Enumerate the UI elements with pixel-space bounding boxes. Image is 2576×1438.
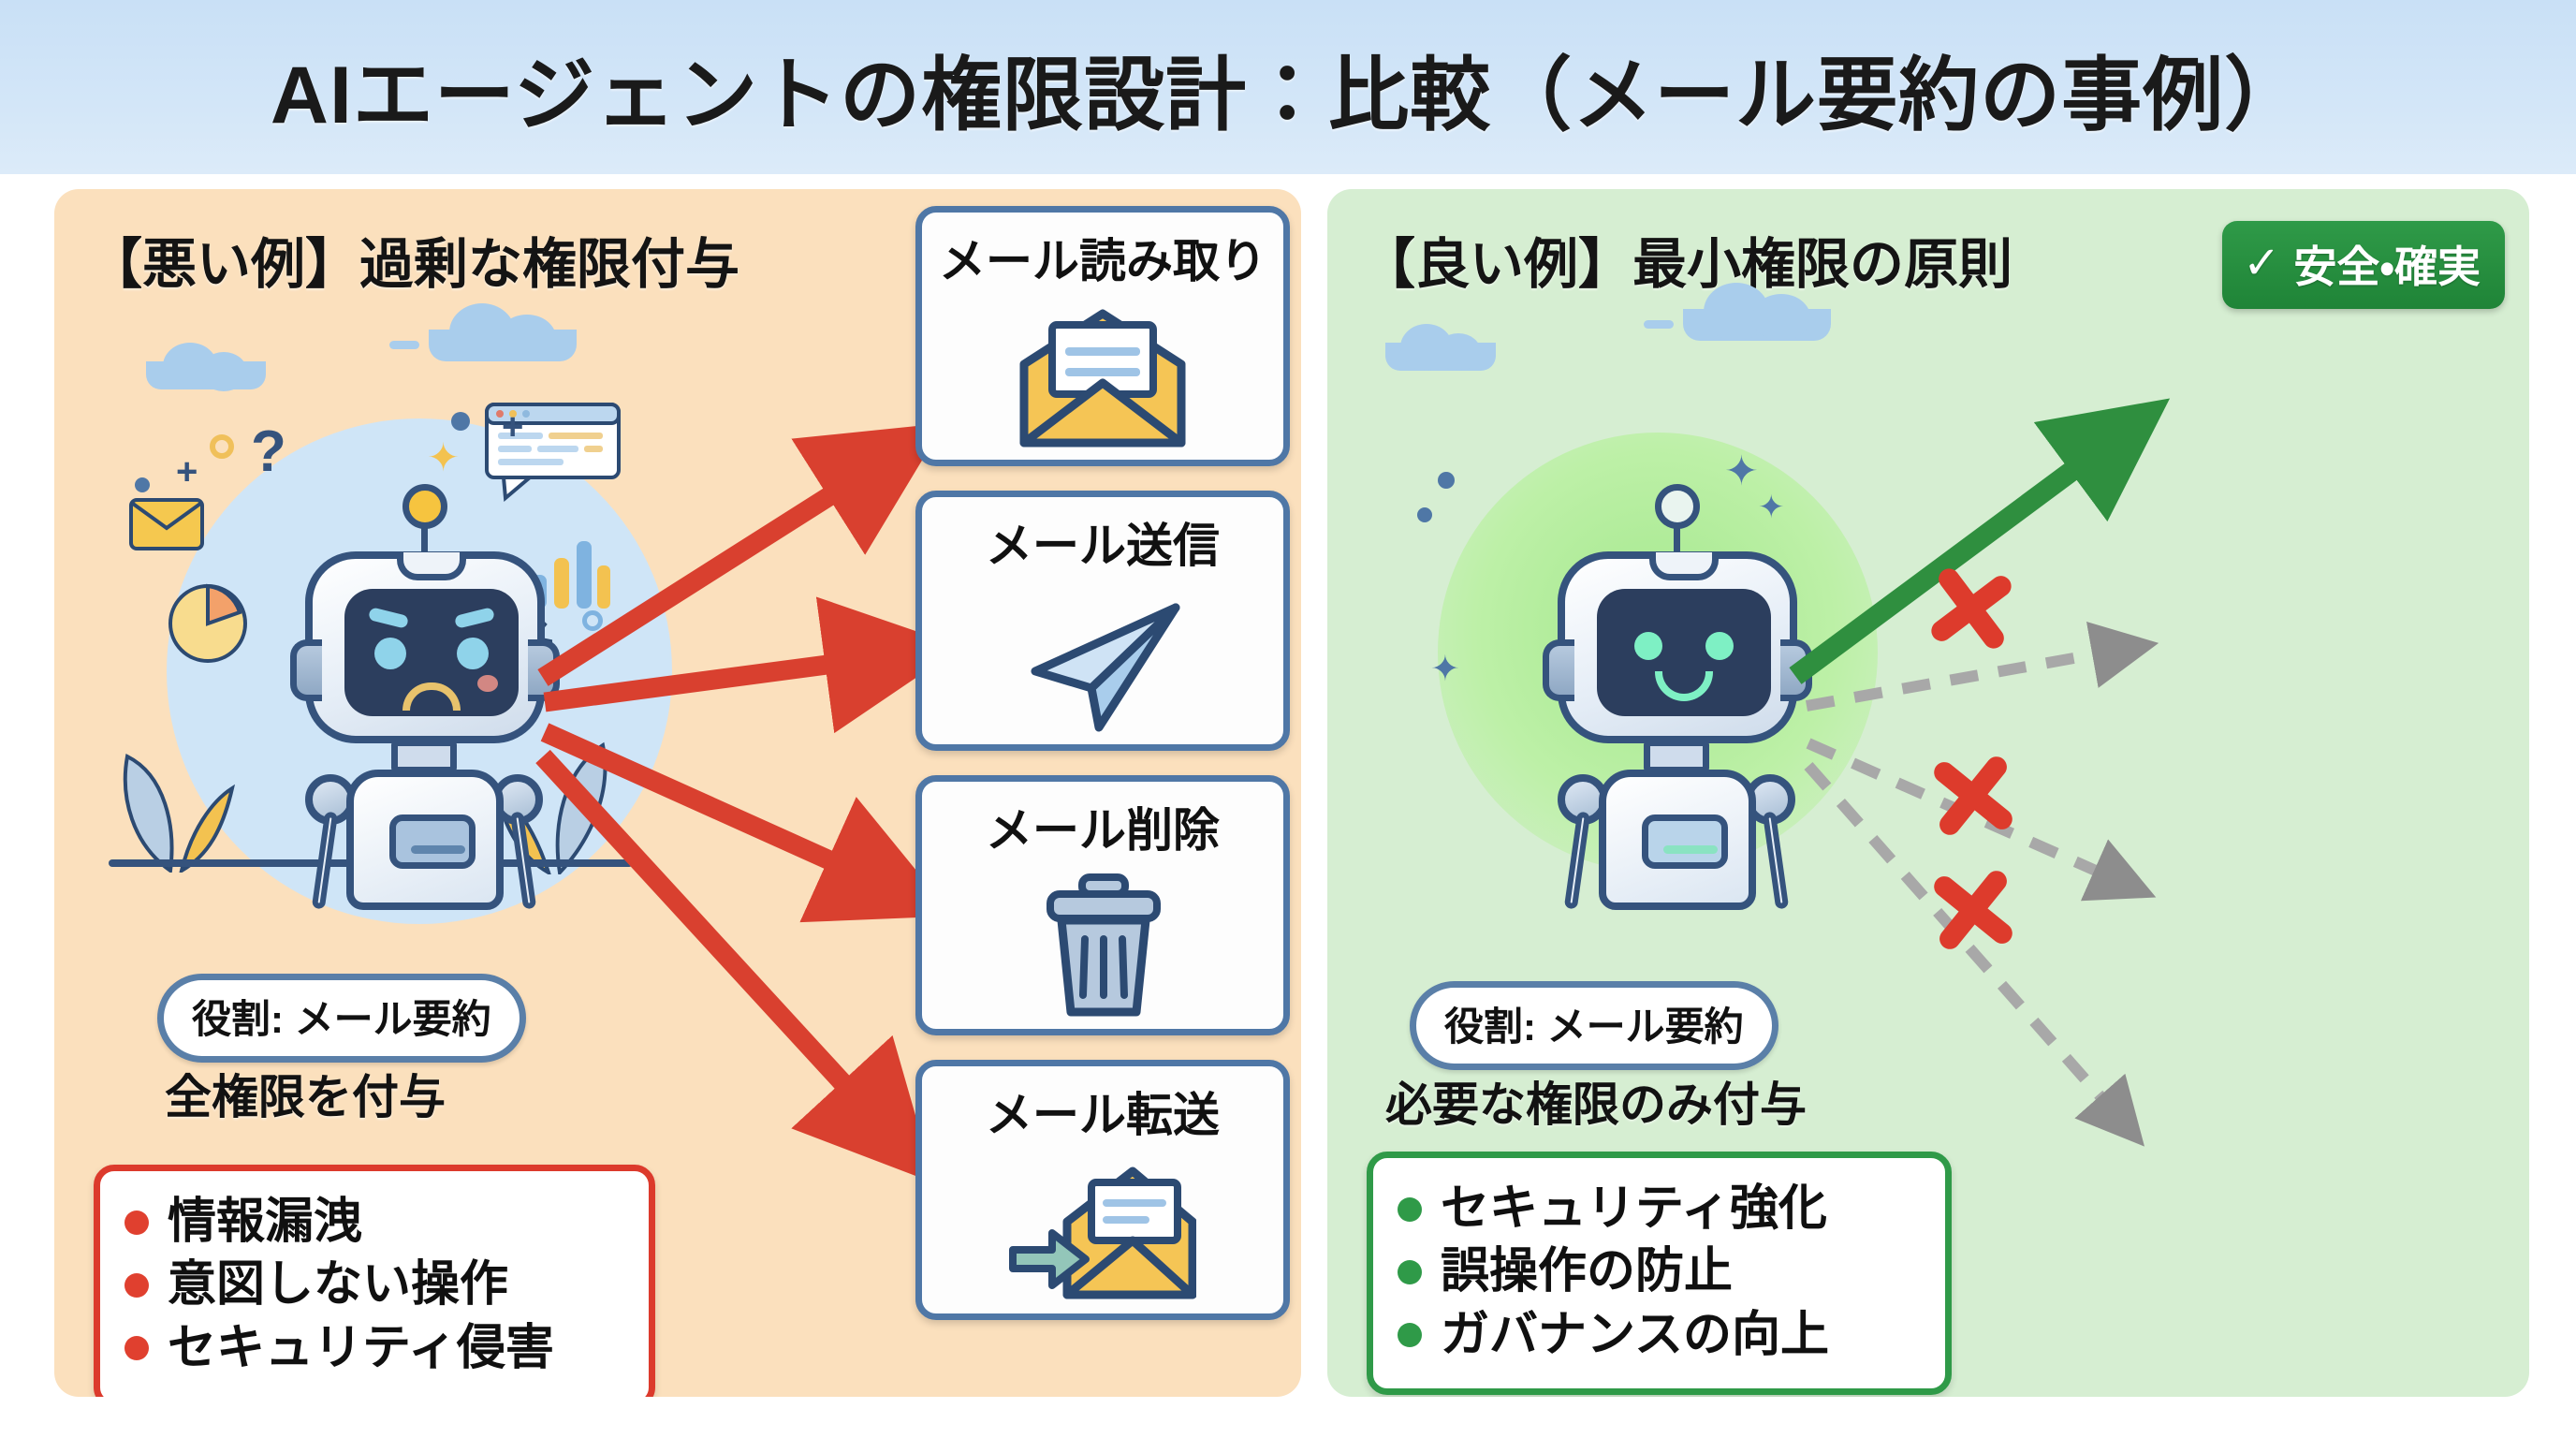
bullet-icon: [1398, 1260, 1422, 1284]
infographic-root: AIエージェントの権限設計：比較（メール要約の事例） 【悪い例】過剰な権限付与 …: [0, 0, 2576, 1438]
page-title: AIエージェントの権限設計：比較（メール要約の事例）: [271, 29, 2305, 146]
bullet-icon: [124, 1273, 149, 1298]
list-item-label: 誤操作の防止: [1441, 1243, 1733, 1300]
dot-decoration: [451, 412, 470, 431]
status-badge-label: 安全・確実: [2293, 233, 2481, 295]
robot-scene-bad: ? + + ✦ ✦: [120, 330, 719, 966]
check-icon: ✓: [2243, 242, 2280, 286]
question-mark-decoration-icon: ?: [251, 418, 286, 485]
list-item: 意図しない操作: [124, 1256, 617, 1313]
robot-body: [346, 770, 504, 910]
benefit-list-good: セキュリティ強化 誤操作の防止 ガバナンスの向上: [1367, 1152, 1952, 1395]
panel-bad-example: 【悪い例】過剰な権限付与 ✕ 危険性あり: [54, 189, 1301, 1397]
header-band: AIエージェントの権限設計：比較（メール要約の事例）: [0, 0, 2576, 174]
permission-card-label: メール送信: [986, 508, 1220, 576]
ai-agent-robot-happy: [1513, 493, 1840, 905]
antenna-icon: [402, 484, 447, 529]
robot-face-happy: [1597, 589, 1771, 716]
robot-scene-good: ✦ ✦ ✦: [1372, 330, 1971, 966]
robot-head: [305, 551, 545, 743]
sparkle-decoration-icon: ✦: [1724, 448, 1759, 495]
list-item-label: セキュリティ侵害: [168, 1320, 554, 1377]
list-item: 情報漏洩: [124, 1194, 617, 1251]
ai-agent-robot-worried: [260, 493, 588, 905]
list-item: セキュリティ侵害: [124, 1320, 617, 1377]
paper-plane-icon: [1009, 581, 1196, 741]
bullet-icon: [1398, 1197, 1422, 1222]
robot-body: [1599, 770, 1756, 910]
trash-can-icon: [1009, 866, 1196, 1025]
panel-bad-title: 【悪い例】過剰な権限付与: [88, 220, 739, 299]
cloud-icon: [429, 301, 588, 367]
list-item-label: 情報漏洩: [168, 1194, 362, 1251]
plant-decoration-icon: [114, 723, 236, 873]
dot-decoration: [1438, 472, 1455, 489]
permission-card-mail-read[interactable]: メール読み取り: [915, 206, 1290, 466]
list-item-label: 意図しない操作: [168, 1256, 508, 1313]
open-envelope-icon: [1009, 297, 1196, 456]
permission-card-label: メール転送: [986, 1078, 1220, 1145]
robot-face-sad: [344, 589, 519, 716]
permission-card-mail-forward[interactable]: メール転送: [915, 1060, 1290, 1320]
plus-decoration-icon: +: [502, 406, 523, 448]
bullet-icon: [1398, 1323, 1422, 1347]
list-item: セキュリティ強化: [1398, 1181, 1913, 1238]
bullet-icon: [124, 1211, 149, 1235]
sparkle-decoration-icon: ✦: [1430, 648, 1460, 690]
list-item-label: ガバナンスの向上: [1441, 1307, 1829, 1364]
pie-chart-decoration-icon: [165, 580, 251, 667]
role-badge-good: 役割: メール要約: [1410, 981, 1778, 1070]
permission-card-label: メール読み取り: [939, 224, 1266, 291]
dot-decoration: [135, 477, 150, 492]
grant-caption-bad: 全権限を付与: [165, 1060, 446, 1127]
dot-decoration: [210, 434, 234, 459]
dot-decoration: [1417, 507, 1432, 522]
plus-decoration-icon: +: [176, 451, 198, 493]
cloud-icon: [1385, 320, 1507, 374]
cloud-icon: [146, 337, 277, 393]
list-item: 誤操作の防止: [1398, 1243, 1913, 1300]
risk-list-bad: 情報漏洩 意図しない操作 セキュリティ侵害: [94, 1165, 655, 1397]
status-badge-safe: ✓ 安全・確実: [2222, 221, 2505, 309]
list-item: ガバナンスの向上: [1398, 1307, 1913, 1364]
antenna-icon: [1655, 484, 1700, 529]
bullet-icon: [124, 1336, 149, 1360]
panel-good-example: 【良い例】最小権限の原則 ✓ 安全・確実 ✦ ✦ ✦: [1327, 189, 2529, 1397]
grant-caption-good: 必要な権限のみ付与: [1385, 1067, 1807, 1135]
list-item-label: セキュリティ強化: [1441, 1181, 1827, 1238]
panel-good-header: 【良い例】最小権限の原則 ✓ 安全・確実: [1327, 208, 2529, 311]
cloud-icon: [1683, 281, 1842, 346]
role-badge-bad: 役割: メール要約: [157, 974, 526, 1063]
envelope-decoration-icon: [129, 498, 204, 550]
sparkle-decoration-icon: ✦: [427, 434, 460, 480]
forward-mail-icon: [1009, 1151, 1196, 1310]
permission-card-mail-send[interactable]: メール送信: [915, 491, 1290, 751]
permission-card-mail-delete[interactable]: メール削除: [915, 775, 1290, 1035]
permission-card-label: メール削除: [986, 793, 1220, 860]
robot-head: [1558, 551, 1797, 743]
